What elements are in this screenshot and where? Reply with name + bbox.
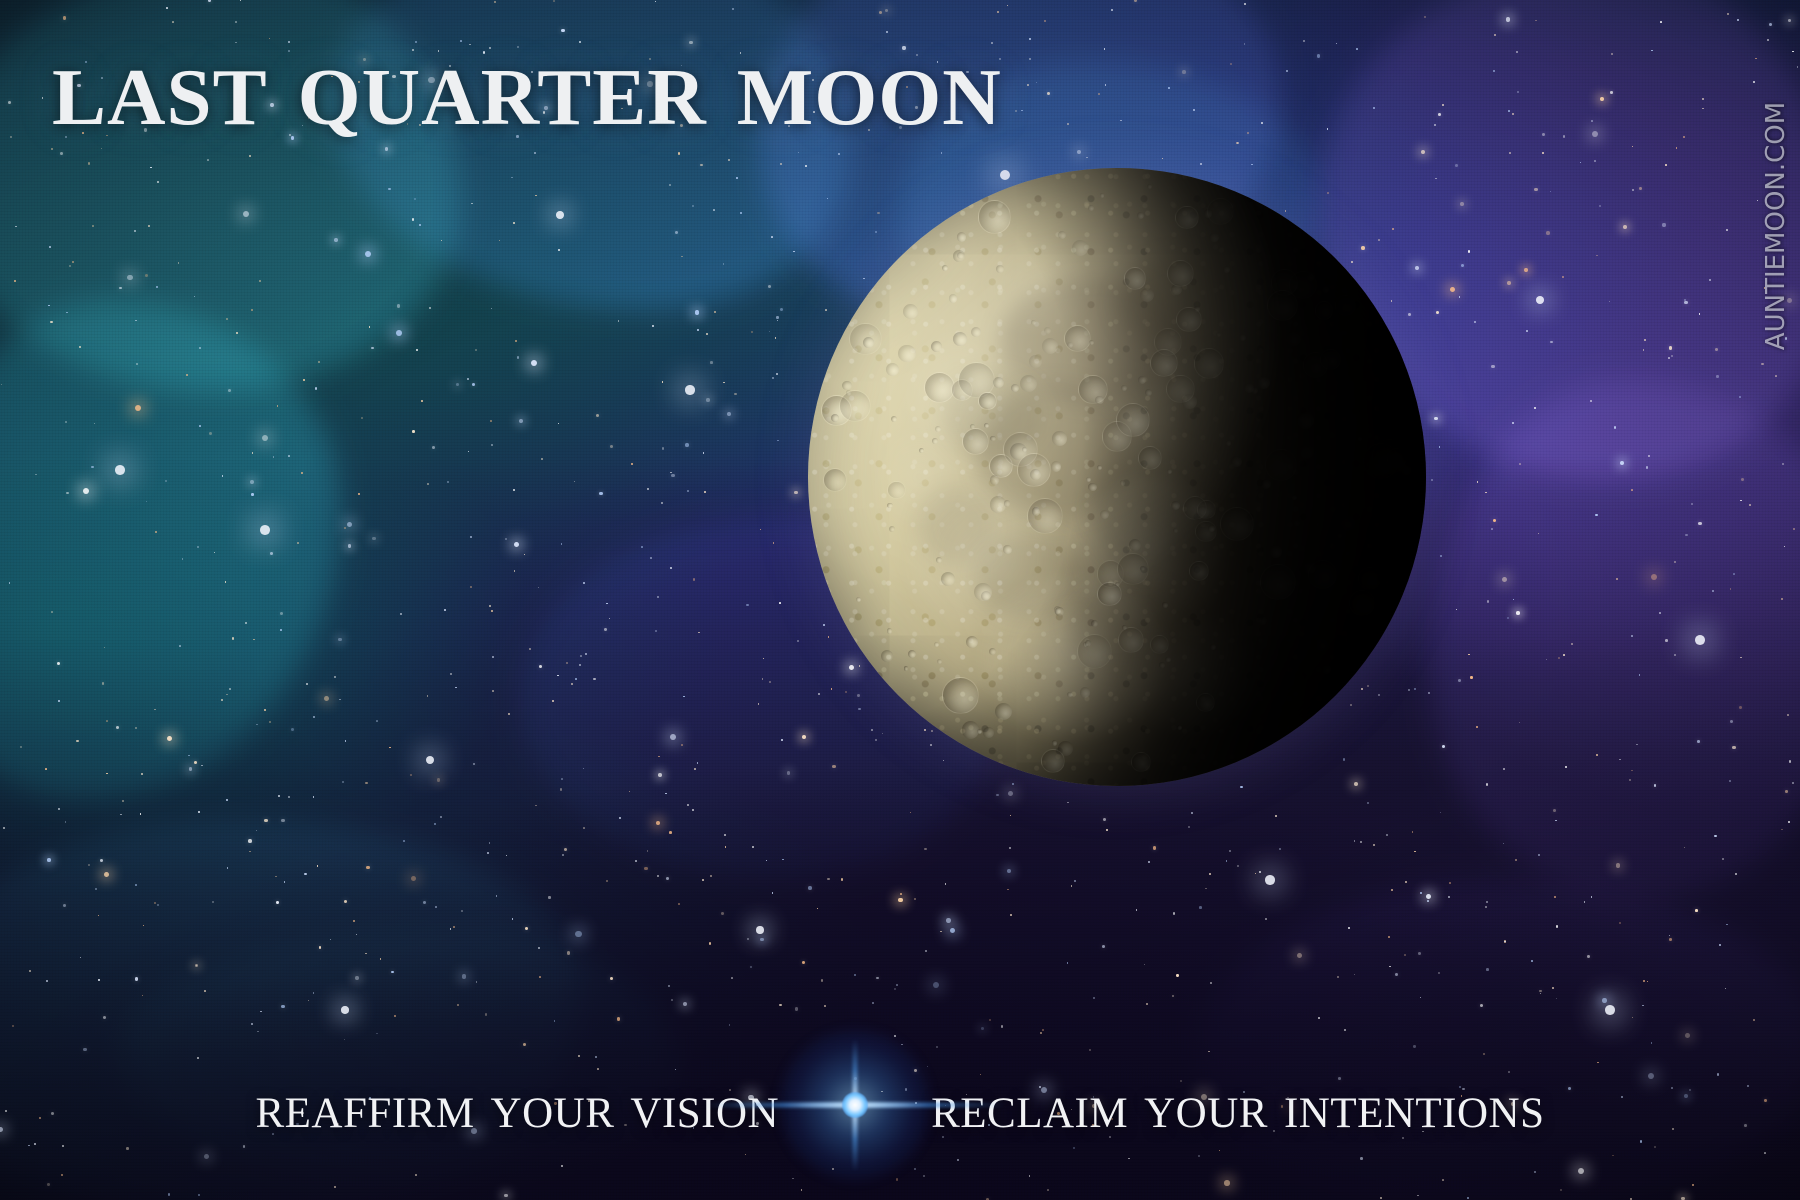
star: [106, 720, 108, 722]
star: [29, 970, 31, 972]
star: [558, 249, 560, 251]
moon-poster: Last Quarter Moon Reaffirm your vision R…: [0, 0, 1800, 1200]
star: [1767, 39, 1769, 41]
star: [724, 834, 726, 836]
star: [1440, 812, 1442, 814]
star: [319, 946, 322, 949]
star: [344, 1039, 346, 1041]
star: [1460, 202, 1464, 206]
star: [410, 774, 412, 776]
star: [514, 570, 516, 572]
star: [1318, 1017, 1320, 1019]
star: [1519, 722, 1521, 724]
star: [1546, 659, 1548, 661]
star: [714, 311, 716, 313]
star: [567, 951, 571, 955]
star: [1337, 976, 1339, 978]
star: [517, 356, 519, 358]
star: [369, 326, 371, 328]
star: [427, 695, 429, 697]
star: [315, 387, 317, 389]
star: [102, 682, 105, 685]
star: [403, 840, 405, 842]
star: [257, 1031, 259, 1033]
star: [514, 542, 519, 547]
star: [1709, 279, 1711, 281]
star: [1405, 881, 1407, 883]
star: [1373, 844, 1375, 846]
star: [366, 866, 370, 870]
star: [1691, 503, 1693, 505]
star: [1534, 1171, 1536, 1173]
star: [1646, 466, 1648, 468]
star: [365, 782, 367, 784]
star: [1071, 885, 1073, 887]
star: [894, 1035, 896, 1037]
star: [204, 1154, 209, 1159]
star: [525, 927, 528, 930]
star: [473, 763, 476, 766]
star: [256, 830, 258, 832]
star: [1565, 766, 1567, 768]
star: [344, 527, 346, 529]
star: [780, 308, 783, 311]
star: [228, 389, 231, 392]
star: [769, 331, 771, 333]
star: [746, 604, 748, 606]
star: [683, 1002, 687, 1006]
star: [710, 361, 713, 364]
star: [1556, 998, 1558, 1000]
star: [656, 821, 661, 826]
star: [529, 648, 531, 650]
star: [769, 681, 771, 683]
star: [515, 340, 517, 342]
star: [808, 886, 812, 890]
star: [1077, 150, 1082, 155]
star: [91, 466, 93, 468]
star-bright: [260, 525, 270, 535]
star: [1792, 51, 1794, 53]
star: [92, 225, 94, 227]
star: [781, 739, 783, 741]
star: [1507, 281, 1511, 285]
star: [1210, 982, 1212, 984]
star: [389, 747, 391, 749]
star: [513, 222, 515, 224]
star: [700, 164, 703, 167]
star: [1344, 1029, 1346, 1031]
star: [1485, 906, 1487, 908]
star: [562, 854, 564, 856]
star: [60, 152, 63, 155]
star: [650, 557, 652, 559]
star: [297, 542, 299, 544]
star: [641, 546, 643, 548]
star: [1578, 1168, 1584, 1174]
star: [678, 152, 680, 154]
star: [1647, 981, 1649, 983]
star: [1395, 973, 1398, 976]
star: [1103, 818, 1106, 821]
star: [189, 767, 193, 771]
star: [444, 609, 446, 611]
star: [731, 977, 733, 979]
star: [981, 1027, 985, 1031]
star: [1674, 561, 1676, 563]
star: [662, 381, 664, 383]
star: [157, 904, 159, 906]
star: [1591, 120, 1593, 122]
star: [236, 332, 238, 334]
star: [429, 307, 431, 309]
star: [281, 819, 284, 822]
star: [989, 1019, 991, 1021]
star: [896, 1178, 898, 1180]
star: [1389, 966, 1391, 968]
star: [419, 224, 421, 226]
star: [647, 850, 648, 851]
star: [79, 346, 81, 348]
star: [66, 312, 68, 314]
page-title: Last Quarter Moon: [52, 28, 1002, 144]
star: [824, 1005, 826, 1007]
star: [1493, 70, 1495, 72]
star: [832, 1168, 834, 1170]
star: [1665, 164, 1667, 166]
star: [1715, 348, 1718, 351]
star: [487, 852, 489, 854]
star: [1651, 1042, 1653, 1044]
star-bright: [1695, 635, 1705, 645]
star: [1036, 82, 1038, 84]
star: [1632, 146, 1634, 148]
star: [946, 918, 951, 923]
star: [775, 337, 777, 339]
star: [1439, 446, 1441, 448]
star: [706, 333, 708, 335]
star: [313, 796, 315, 798]
star: [214, 552, 216, 554]
star: [1001, 1025, 1003, 1027]
star: [671, 999, 673, 1001]
star: [1418, 952, 1421, 955]
star: [1491, 365, 1494, 368]
star: [1303, 40, 1305, 42]
star: [1483, 1053, 1485, 1055]
star: [95, 888, 97, 890]
star: [1534, 188, 1538, 192]
star: [232, 637, 234, 639]
star: [574, 481, 576, 483]
star: [1702, 108, 1703, 109]
star: [380, 958, 381, 959]
star: [1512, 113, 1514, 115]
star: [47, 1183, 50, 1186]
star: [1176, 974, 1178, 976]
star: [1468, 250, 1470, 252]
star: [1517, 91, 1519, 93]
star: [1120, 120, 1122, 122]
star: [489, 842, 491, 844]
star: [198, 811, 200, 813]
star: [98, 979, 99, 980]
star: [1424, 16, 1426, 18]
star: [1716, 375, 1718, 377]
star: [98, 915, 100, 917]
star: [792, 1178, 794, 1180]
watermark-label: AUNTIEMOON.COM: [1761, 102, 1791, 350]
star: [100, 859, 103, 862]
star: [876, 977, 879, 980]
star: [508, 713, 510, 715]
star: [281, 1005, 285, 1009]
star: [1244, 3, 1246, 5]
star: [1726, 924, 1728, 926]
star: [491, 444, 493, 446]
star: [280, 629, 282, 631]
star: [1562, 276, 1564, 278]
star: [1753, 81, 1755, 83]
star: [1789, 760, 1791, 762]
star: [1659, 612, 1661, 614]
star: [1219, 1150, 1221, 1152]
star: [1007, 5, 1009, 7]
star: [355, 976, 359, 980]
star: [1199, 906, 1202, 909]
star: [697, 329, 699, 331]
star: [291, 728, 294, 731]
star: [548, 896, 550, 898]
star: [303, 379, 305, 381]
star: [306, 683, 308, 685]
star: [1636, 744, 1638, 746]
star: [1380, 1197, 1383, 1200]
star: [1538, 854, 1540, 856]
star: [1539, 990, 1542, 993]
star: [1643, 349, 1645, 351]
star: [1555, 820, 1557, 822]
star: [1669, 346, 1672, 349]
star: [585, 653, 587, 655]
star: [782, 859, 784, 861]
star: [692, 205, 694, 207]
star: [1654, 1146, 1656, 1148]
star: [365, 251, 371, 257]
star: [179, 645, 181, 647]
star: [1651, 574, 1657, 580]
star: [198, 1194, 200, 1196]
star: [1420, 892, 1422, 894]
star: [8, 101, 11, 104]
star: [372, 537, 376, 541]
star: [1435, 178, 1437, 180]
star: [933, 982, 939, 988]
star: [678, 903, 680, 905]
star: [412, 218, 414, 220]
star: [593, 678, 596, 681]
star: [945, 883, 947, 885]
star: [135, 405, 141, 411]
star: [1684, 301, 1687, 304]
star: [1468, 654, 1470, 656]
star: [1348, 927, 1350, 929]
star: [104, 872, 109, 877]
star: [155, 531, 157, 533]
star: [727, 412, 731, 416]
star: [197, 546, 199, 548]
star: [1074, 880, 1076, 882]
star: [1508, 110, 1510, 112]
star: [1010, 914, 1012, 916]
star: [535, 805, 537, 807]
star: [1740, 500, 1742, 502]
star: [1104, 48, 1106, 50]
star: [441, 240, 443, 242]
star: [1040, 1032, 1042, 1034]
star: [787, 771, 791, 775]
star: [461, 910, 463, 912]
star: [143, 925, 145, 927]
star: [63, 16, 67, 20]
star: [802, 961, 805, 964]
star: [415, 1174, 417, 1176]
star: [1047, 1189, 1049, 1191]
star: [740, 212, 742, 214]
star: [344, 900, 347, 903]
star: [524, 554, 525, 555]
star: [453, 926, 455, 928]
star: [250, 480, 254, 484]
star: [900, 893, 902, 895]
star: [1188, 826, 1190, 828]
star: [1594, 160, 1596, 162]
star: [610, 445, 613, 448]
star: [1494, 34, 1496, 36]
star: [1597, 1062, 1599, 1064]
star: [1470, 676, 1472, 678]
star: [450, 928, 451, 929]
star: [1788, 19, 1792, 23]
star: [1226, 860, 1228, 862]
star: [661, 502, 663, 504]
star: [1714, 835, 1716, 837]
star: [94, 423, 95, 424]
star: [456, 383, 460, 387]
star: [1073, 1147, 1075, 1149]
star: [1519, 463, 1521, 465]
star: [670, 734, 676, 740]
star: [470, 586, 472, 588]
star: [1413, 1045, 1415, 1047]
star: [776, 316, 778, 318]
star: [1426, 894, 1431, 899]
star: [194, 761, 197, 764]
star: [697, 762, 699, 764]
star: [671, 474, 675, 478]
star: [1027, 84, 1029, 86]
star: [136, 363, 138, 365]
star: [496, 895, 498, 897]
star: [46, 980, 48, 982]
star: [150, 167, 152, 169]
star: [652, 325, 654, 327]
star: [120, 814, 122, 816]
star: [1458, 679, 1461, 682]
star: [644, 867, 647, 870]
star: [1681, 1197, 1685, 1200]
star: [583, 582, 585, 584]
star: [795, 1007, 799, 1011]
star: [1665, 639, 1668, 642]
star: [1683, 136, 1685, 138]
star: [1697, 740, 1700, 743]
star: [199, 347, 201, 349]
star: [1699, 313, 1701, 315]
star: [702, 879, 704, 881]
star: [1631, 489, 1633, 491]
star-bright: [1536, 296, 1544, 304]
star: [1540, 993, 1542, 995]
star: [1265, 918, 1267, 920]
star: [1502, 577, 1507, 582]
star: [539, 665, 542, 668]
star: [48, 305, 50, 307]
star: [1612, 1155, 1614, 1157]
star: [1448, 896, 1450, 898]
star: [1021, 110, 1022, 111]
star: [489, 605, 491, 607]
star: [583, 827, 585, 829]
star: [1793, 528, 1795, 530]
star: [1516, 51, 1519, 54]
star: [706, 398, 710, 402]
star: [766, 860, 768, 862]
star: [1173, 912, 1175, 914]
star: [1089, 1049, 1091, 1051]
star: [760, 529, 761, 530]
star: [157, 181, 159, 183]
star: [1286, 70, 1288, 72]
star: [1558, 657, 1560, 659]
star: [313, 716, 315, 718]
star: [1660, 21, 1662, 23]
star: [195, 964, 199, 968]
star: [1623, 225, 1627, 229]
star: [1198, 1155, 1200, 1157]
star: [698, 632, 700, 634]
star: [1042, 1029, 1044, 1031]
star: [1360, 841, 1362, 843]
star: [1467, 1197, 1469, 1199]
star: [1386, 834, 1388, 836]
star: [226, 799, 228, 801]
star: [669, 184, 671, 186]
star: [523, 1043, 527, 1047]
star: [752, 846, 754, 848]
star: [1730, 588, 1732, 590]
star: [435, 906, 437, 908]
star: [240, 0, 242, 1]
star: [467, 378, 469, 380]
star: [558, 423, 560, 425]
star: [776, 373, 778, 375]
star: [879, 11, 882, 14]
star: [1616, 578, 1618, 580]
star: [619, 817, 621, 819]
star: [729, 1024, 731, 1026]
last-quarter-moon-icon: [808, 168, 1426, 786]
